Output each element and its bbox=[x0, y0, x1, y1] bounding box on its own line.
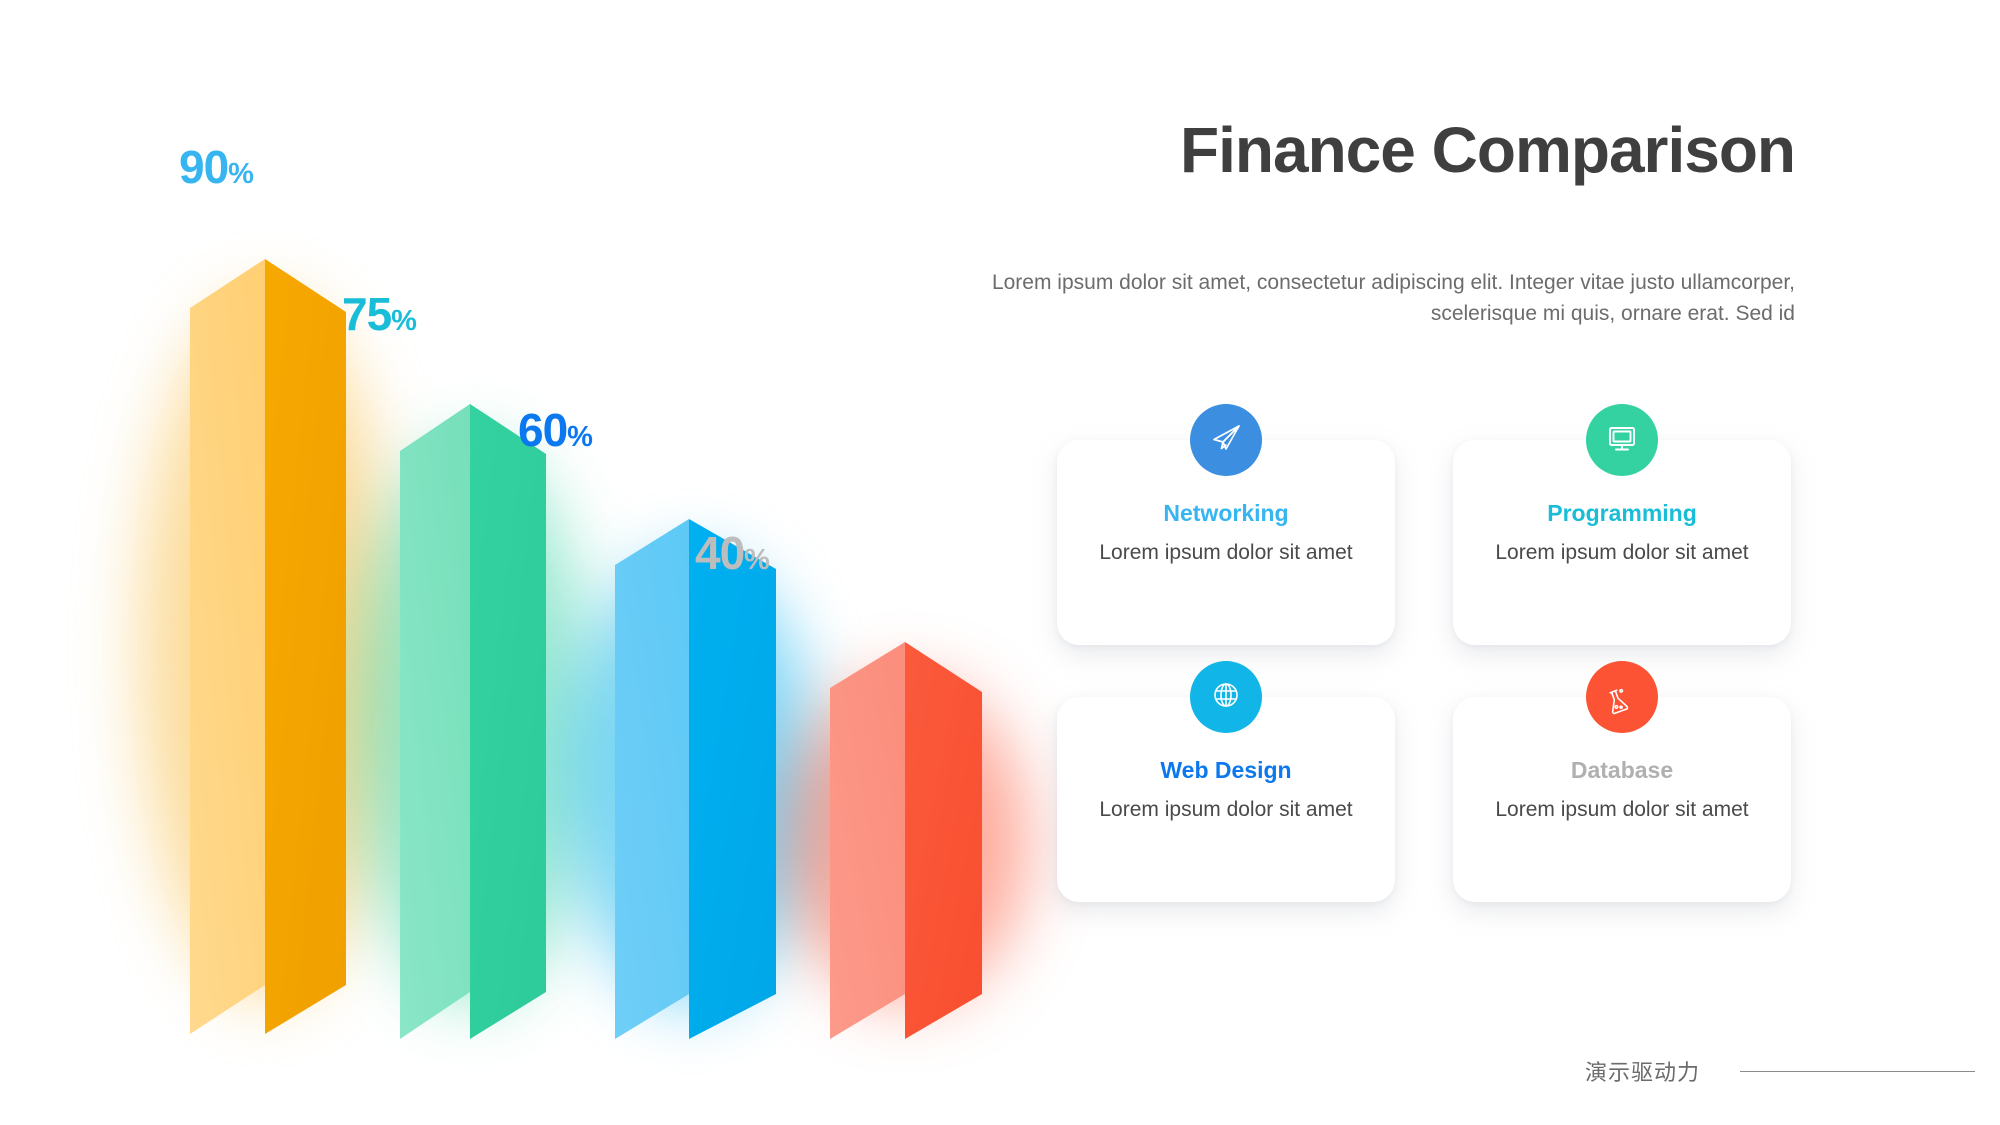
card-description: Lorem ipsum dolor sit amet bbox=[1096, 539, 1356, 567]
bar-shape-1 bbox=[400, 404, 546, 1049]
footer-brand: 演示驱动力 bbox=[1585, 1055, 1700, 1087]
monitor-icon bbox=[1605, 421, 1639, 460]
footer-divider bbox=[1740, 1071, 1975, 1072]
networking-icon-circle bbox=[1190, 404, 1262, 476]
card-row-bottom: Web Design Lorem ipsum dolor sit amet bbox=[1057, 697, 1837, 902]
globe-icon bbox=[1209, 678, 1243, 717]
bar-value-label-1: 75% bbox=[342, 291, 416, 337]
bar-value-label-2: 60% bbox=[518, 407, 592, 453]
card-description: Lorem ipsum dolor sit amet bbox=[1492, 796, 1752, 824]
card-description: Lorem ipsum dolor sit amet bbox=[1492, 539, 1752, 567]
paper-plane-icon bbox=[1208, 420, 1244, 461]
feature-card-networking[interactable]: Networking Lorem ipsum dolor sit amet bbox=[1057, 440, 1395, 645]
footer: 演示驱动力 bbox=[1585, 1055, 1975, 1087]
page-subtitle: Lorem ipsum dolor sit amet, consectetur … bbox=[965, 268, 1795, 330]
bar-value-label-0: 90% bbox=[179, 144, 253, 190]
web-design-icon-circle bbox=[1190, 661, 1262, 733]
bar-column-3: 40% bbox=[830, 642, 982, 1004]
card-title: Networking bbox=[1163, 502, 1288, 525]
bar-value-label-3: 40% bbox=[695, 530, 769, 576]
bar-column-1: 75% bbox=[400, 404, 546, 1004]
card-title: Programming bbox=[1547, 502, 1697, 525]
database-icon-circle bbox=[1586, 661, 1658, 733]
card-row-top: Networking Lorem ipsum dolor sit amet bbox=[1057, 440, 1837, 645]
card-title: Web Design bbox=[1160, 759, 1291, 782]
card-description: Lorem ipsum dolor sit amet bbox=[1096, 796, 1356, 824]
bar-column-0: 90% bbox=[190, 259, 346, 1004]
card-title: Database bbox=[1571, 759, 1673, 782]
programming-icon-circle bbox=[1586, 404, 1658, 476]
feature-card-programming[interactable]: Programming Lorem ipsum dolor sit amet bbox=[1453, 440, 1791, 645]
feature-card-database[interactable]: Database Lorem ipsum dolor sit amet bbox=[1453, 697, 1791, 902]
bar-shape-0 bbox=[190, 259, 346, 1049]
bar-column-2: 60% bbox=[615, 519, 776, 1004]
bar-chart: 90% 75% bbox=[0, 0, 1030, 1125]
feature-card-web-design[interactable]: Web Design Lorem ipsum dolor sit amet bbox=[1057, 697, 1395, 902]
bar-shape-3 bbox=[830, 642, 982, 1049]
flask-icon bbox=[1605, 678, 1639, 717]
feature-card-grid: Networking Lorem ipsum dolor sit amet bbox=[1057, 440, 1837, 954]
bar-shape-2 bbox=[615, 519, 776, 1049]
page-title: Finance Comparison bbox=[1180, 118, 1795, 182]
slide-root: 90% 75% bbox=[0, 0, 2000, 1125]
content-panel: Finance Comparison Lorem ipsum dolor sit… bbox=[1020, 0, 2000, 1125]
